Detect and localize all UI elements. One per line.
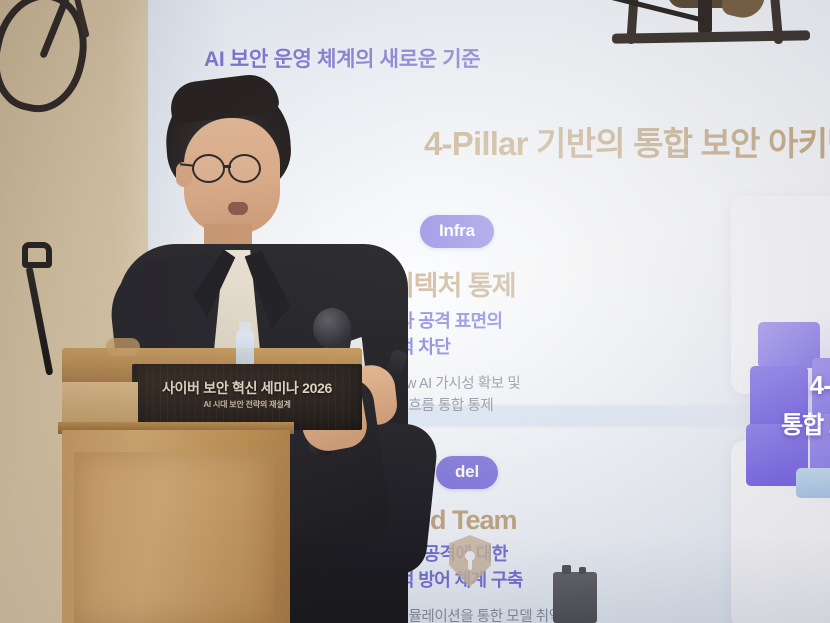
podium-logo — [106, 338, 140, 356]
ceiling-mount-bracket — [612, 0, 810, 54]
slide-kicker: AI 보안 운영 체계의 새로운 기준 — [204, 43, 480, 73]
badge-infra: Infra — [420, 215, 494, 248]
water-bottle — [236, 330, 254, 366]
shield-keyhole-cutout — [465, 551, 475, 561]
badge-model: del — [436, 456, 498, 489]
slide-headline: 4-Pillar 기반의 통합 보안 아키텍 — [424, 117, 830, 165]
foreground-equipment — [553, 572, 597, 623]
microphone-clamp-icon — [22, 242, 52, 268]
cube-label-line2: 통합 보안 구조 — [744, 405, 830, 440]
podium-nameplate-subtitle: AI 시대 보안 전략의 재설계 — [132, 399, 362, 410]
podium-nameplate: 사이버 보안 혁신 세미나 2026 AI 시대 보안 전략의 재설계 — [132, 364, 362, 430]
water-bottle-cap — [239, 322, 251, 332]
center-cube-graphic: 4-Pillar 통합 보안 구조 — [744, 318, 830, 498]
glasses-bridge — [224, 165, 231, 168]
ceiling-fixture-arm — [720, 0, 768, 22]
podium-nameplate-title: 사이버 보안 혁신 세미나 2026 — [132, 378, 362, 398]
glasses-lens-left — [192, 154, 225, 183]
cube-label: 4-Pillar 통합 보안 구조 — [744, 370, 830, 440]
glasses-lens-right — [228, 154, 261, 183]
cube-block — [796, 468, 830, 498]
podium-front-panel — [74, 452, 274, 623]
cube-block — [758, 322, 820, 368]
seminar-photo: AI 보안 운영 체계의 새로운 기준 4-Pillar 기반의 통합 보안 아… — [0, 0, 830, 623]
cube-label-line1: 4-Pillar — [744, 370, 830, 401]
speaker-mouth — [228, 202, 248, 215]
